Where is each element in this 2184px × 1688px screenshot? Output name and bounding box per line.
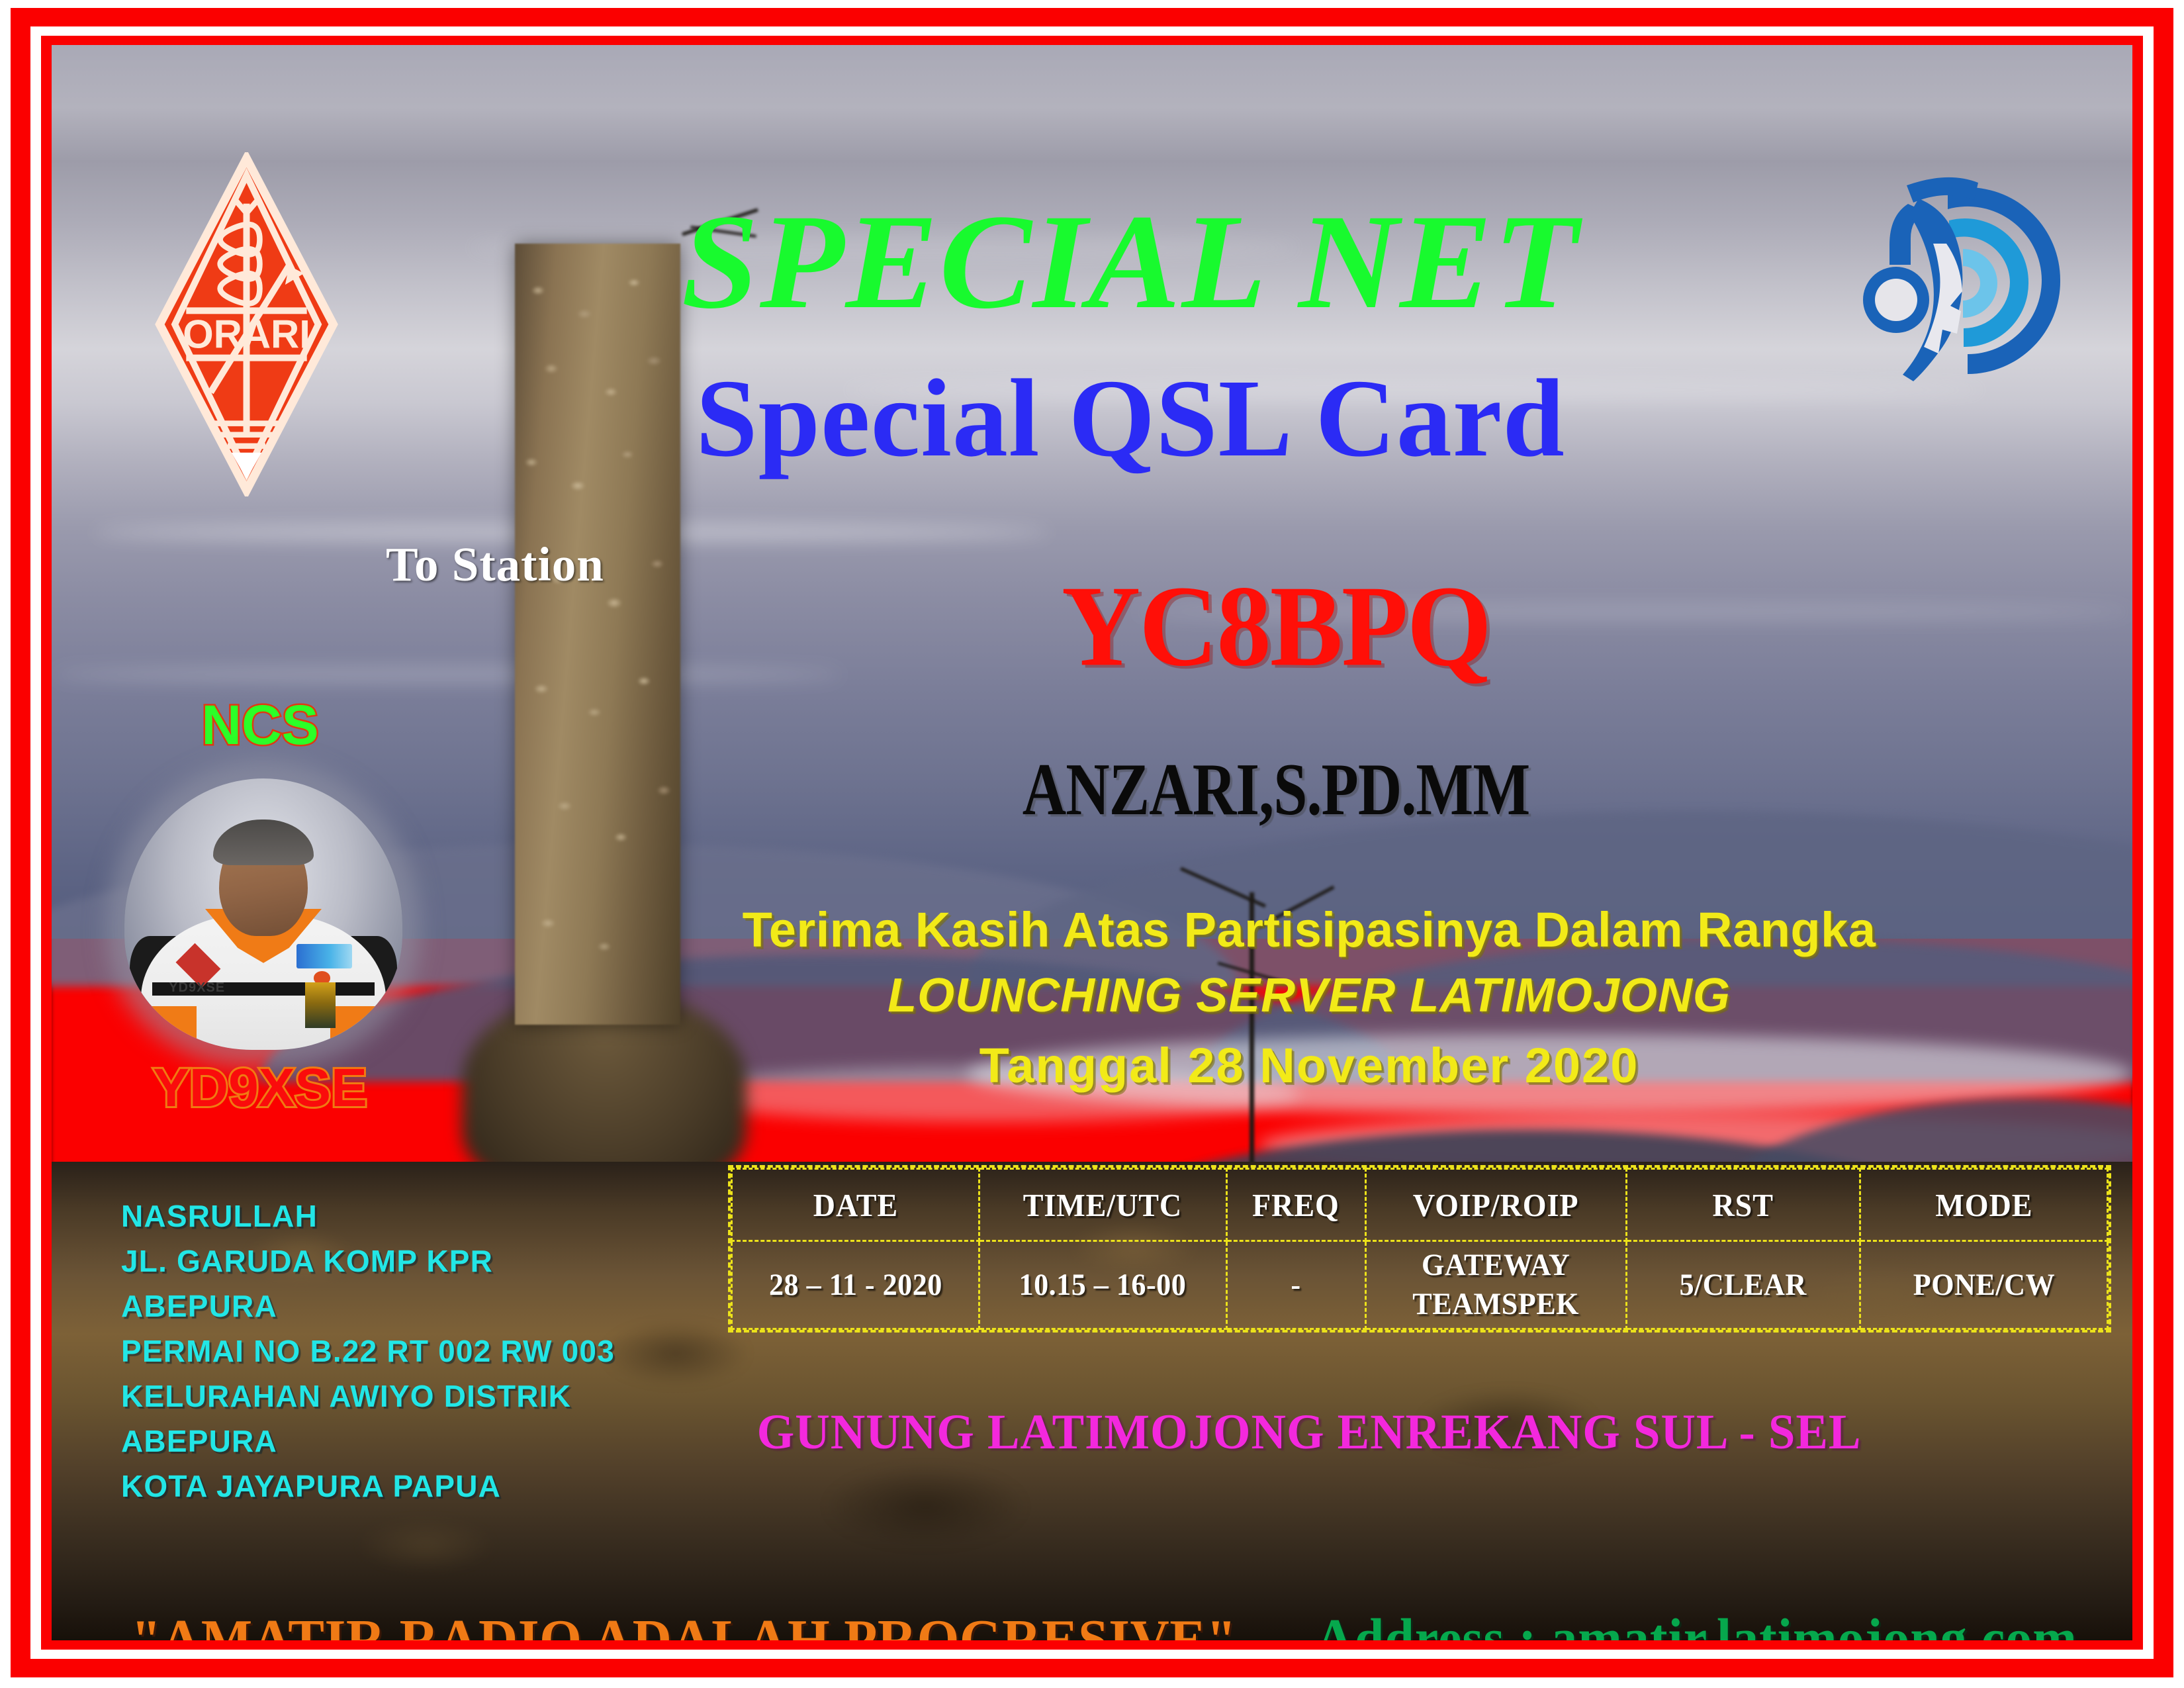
orari-wordmark: ORARI	[183, 312, 310, 357]
cell-freq: -	[1230, 1241, 1361, 1329]
column-header-voip: VOIP/ROIP	[1373, 1169, 1619, 1241]
column-header-time: TIME/UTC	[987, 1169, 1219, 1241]
postal-address: NASRULLAH JL. GARUDA KOMP KPR ABEPURA PE…	[121, 1194, 615, 1509]
ncs-operator-photo: YD9XSE	[124, 778, 402, 1050]
headset-profile-logo	[1862, 164, 2080, 396]
web-address: Address : amatir.latimojong.com	[1316, 1611, 2077, 1640]
address-line: NASRULLAH	[121, 1194, 615, 1239]
column-header-mode: MODE	[1868, 1169, 2100, 1241]
orari-logo: ORARI	[152, 152, 341, 496]
ncs-callsign: YD9XSE	[111, 1061, 409, 1115]
table-row: 28 – 11 - 2020 10.15 – 16-00 - GATEWAY T…	[732, 1241, 2108, 1329]
event-line: LOUNCHING SERVER LATIMOJONG	[713, 972, 1905, 1019]
slogan-text: "AMATIR RADIO ADALAH PROGRESIVE"	[131, 1611, 1237, 1640]
address-line: KELURAHAN AWIYO DISTRIK	[121, 1374, 615, 1419]
cell-mode: PONE/CW	[1868, 1241, 2100, 1329]
cell-date: 28 – 11 - 2020	[739, 1241, 972, 1329]
cell-time: 10.15 – 16-00	[987, 1241, 1219, 1329]
background-photograph: ORARI SPECIAL NET Special Q	[52, 45, 2132, 1640]
column-header-rst: RST	[1633, 1169, 1853, 1241]
cloud-streak	[52, 667, 842, 682]
address-line: ABEPURA	[121, 1284, 615, 1329]
column-header-date: DATE	[739, 1169, 972, 1241]
page-subtitle: Special QSL Card	[502, 363, 1759, 474]
qsl-card: ORARI SPECIAL NET Special Q	[0, 0, 2184, 1688]
station-callsign: YC8BPQ	[912, 568, 1640, 684]
ncs-role-label: NCS	[154, 697, 366, 753]
thanks-line: Terima Kasih Atas Partisipasinya Dalam R…	[713, 906, 1905, 955]
address-line: PERMAI NO B.22 RT 002 RW 003	[121, 1329, 615, 1374]
page-title: SPECIAL NET	[489, 194, 1772, 330]
to-station-label: To Station	[386, 540, 604, 588]
address-line: JL. GARUDA KOMP KPR	[121, 1239, 615, 1284]
table-header-row: DATE TIME/UTC FREQ VOIP/ROIP RST MODE	[732, 1169, 2108, 1241]
cell-rst: 5/CLEAR	[1633, 1241, 1853, 1329]
qso-log-table: DATE TIME/UTC FREQ VOIP/ROIP RST MODE 28…	[728, 1165, 2111, 1333]
venue-line: GUNUNG LATIMOJONG ENREKANG SUL - SEL	[700, 1407, 1919, 1457]
address-line: ABEPURA	[121, 1419, 615, 1464]
id-badge	[305, 982, 336, 1029]
stone-cairn-monument	[515, 244, 680, 1025]
event-date-line: Tanggal 28 November 2020	[713, 1041, 1905, 1090]
cairn-stone-texture	[515, 244, 680, 1025]
shirt-orange-panel-right	[330, 1006, 391, 1050]
column-header-freq: FREQ	[1230, 1169, 1361, 1241]
cell-voip: GATEWAY TEAMSPEK	[1373, 1241, 1619, 1329]
shirt-callsign-text: YD9XSE	[169, 980, 225, 996]
shirt-club-logo	[296, 944, 352, 968]
shirt-orange-panel-left	[136, 1006, 197, 1050]
operator-name: ANZARI,S.PD.MM	[941, 753, 1611, 827]
address-line: KOTA JAYAPURA PAPUA	[121, 1464, 615, 1509]
